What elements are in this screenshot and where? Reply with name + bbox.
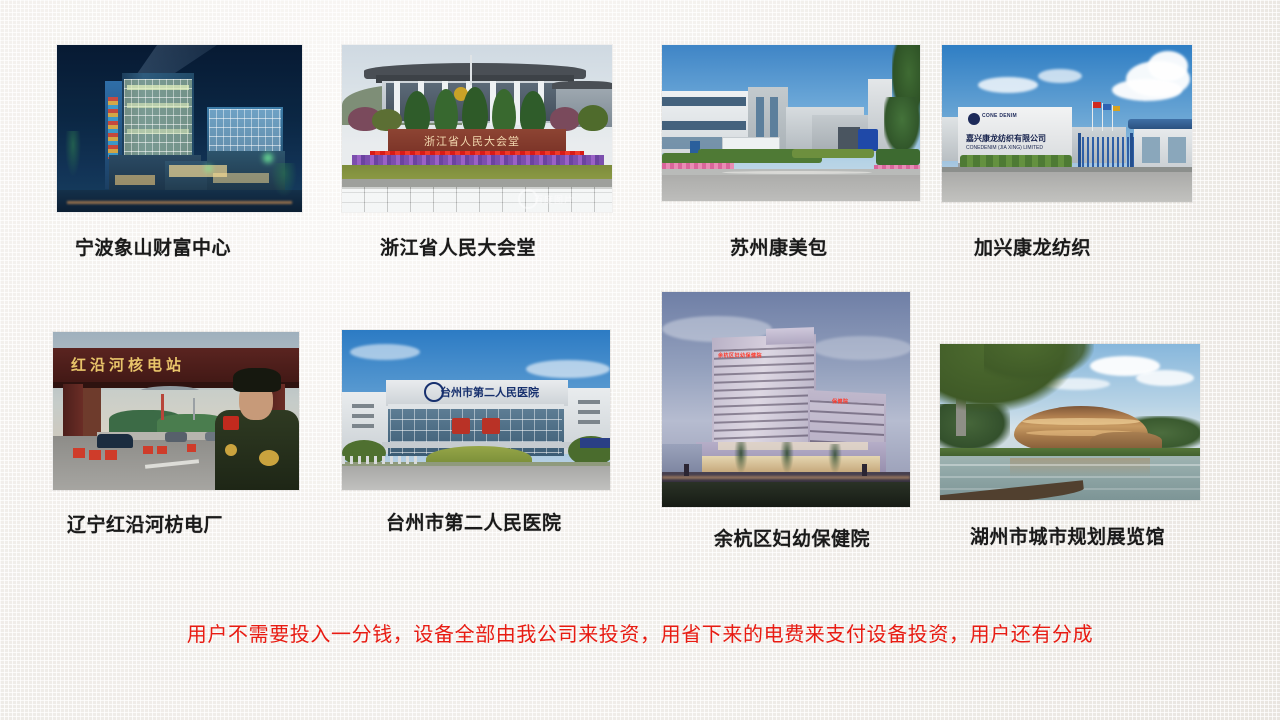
caption-jiaxing: 加兴康龙纺织 [974,233,1091,260]
caption-hongyanhe: 辽宁红沿河枋电厂 [67,510,223,537]
photo-zhejiang-great-hall[interactable]: 浙江省人民大会堂 百度图片 [342,45,612,212]
tagline-text: 用户不需要投入一分钱，设备全部由我公司来投资，用省下来的电费来支付设备投资，用户… [0,618,1280,647]
hospital-sign-text: 台州市第二人民医院 [440,384,539,400]
scene-factory-campus [662,45,920,201]
image-watermark: 百度图片 [534,193,574,206]
gallery-item-zhejiang-hall[interactable]: 浙江省人民大会堂 百度图片 浙江省人民大会堂 [342,45,612,270]
gallery-item-jiaxing[interactable]: CONE DENIM 嘉兴康龙纺织有限公司 CONEDENIM (JIA XIN… [942,45,1192,270]
photo-suzhou-kangmeibao[interactable] [662,45,920,201]
caption-yuhang: 余杭区妇幼保健院 [714,524,870,551]
photo-taizhou-second-hospital[interactable]: 台州市第二人民医院 [342,330,610,490]
caption-ningbo: 宁波象山财富中心 [75,233,231,260]
slide-canvas: 宁波象山财富中心 [0,0,1280,720]
caption-suzhou: 苏州康美包 [730,233,828,260]
wall-text-en: CONEDENIM (JIA XING) LIMITED [966,145,1043,151]
gallery-item-huzhou[interactable]: 湖州市城市规划展览馆 [940,344,1200,554]
cone-denim-logo-text: CONE DENIM [982,113,1017,119]
gallery-item-yuhang[interactable]: 余杭区妇幼保健院 保健院 [662,292,910,554]
building-sign-text: 余杭区妇幼保健院 [718,352,762,359]
gallery-item-taizhou[interactable]: 台州市第二人民医院 台州市第二人民医院 [342,330,610,554]
wall-text-cn: 嘉兴康龙纺织有限公司 [966,133,1046,144]
hall-sign-text: 浙江省人民大会堂 [424,133,536,149]
caption-zhejiang-hall: 浙江省人民大会堂 [380,233,536,260]
gallery-item-ningbo[interactable]: 宁波象山财富中心 [57,45,302,270]
gate-sign-text: 红沿河核电站 [71,354,185,375]
scene-nuclear-gate: 红沿河核电站 [53,332,299,490]
scene-night-highrise [57,45,302,212]
scene-textile-gate: CONE DENIM 嘉兴康龙纺织有限公司 CONEDENIM (JIA XIN… [942,45,1192,202]
photo-huzhou-planning-exhibition-hall[interactable] [940,344,1200,500]
scene-hospital-yuhang: 余杭区妇幼保健院 保健院 [662,292,910,507]
caption-huzhou: 湖州市城市规划展览馆 [970,522,1165,549]
gallery-item-hongyanhe[interactable]: 红沿河核电站 [53,332,299,554]
scene-great-hall: 浙江省人民大会堂 百度图片 [342,45,612,212]
gallery-item-suzhou[interactable]: 苏州康美包 [662,45,920,270]
photo-jiaxing-kanglong-textile[interactable]: CONE DENIM 嘉兴康龙纺织有限公司 CONEDENIM (JIA XIN… [942,45,1192,202]
scene-hospital-taizhou: 台州市第二人民医院 [342,330,610,490]
photo-hongyanhe-nuclear-plant[interactable]: 红沿河核电站 [53,332,299,490]
photo-ningbo-xiangshan-wealth-center[interactable] [57,45,302,212]
scene-exhibition-hall [940,344,1200,500]
caption-taizhou: 台州市第二人民医院 [386,508,562,535]
photo-yuhang-mch-hospital[interactable]: 余杭区妇幼保健院 保健院 [662,292,910,507]
